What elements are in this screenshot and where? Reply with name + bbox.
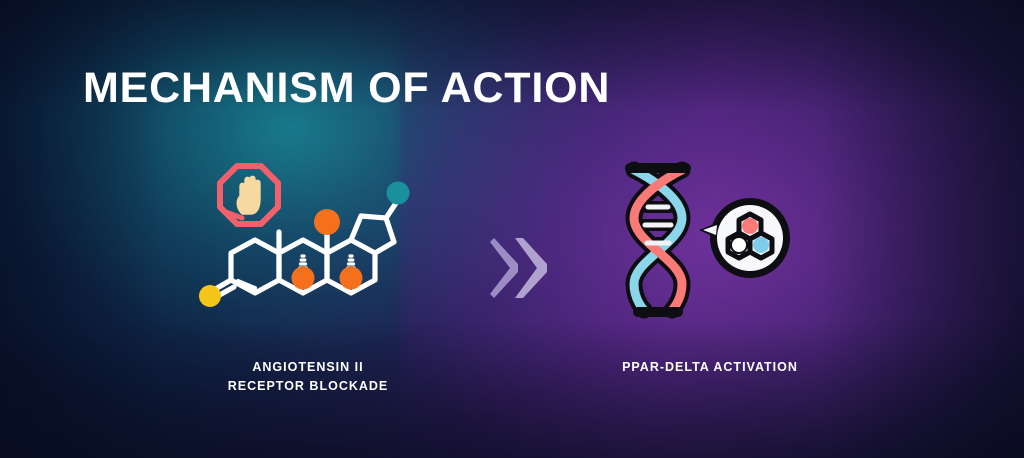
terminal-teal-atom [387, 182, 410, 205]
step-ppar-delta-activation: PPAR-DELTA ACTIVATION [560, 160, 860, 377]
chevron-back [490, 238, 518, 298]
hex-node-red [742, 218, 758, 234]
caption-line-1: ANGIOTENSIN II [158, 358, 458, 377]
terminal-yellow-atom [199, 285, 221, 307]
substituent-orange-mid [292, 267, 315, 290]
caption-line-2: RECEPTOR BLOCKADE [158, 377, 458, 396]
steroid-molecule-blocked-icon [158, 160, 458, 320]
mechanism-of-action-slide: MECHANISM OF ACTION [0, 0, 1024, 458]
double-chevron-right-icon [487, 232, 553, 304]
step-angiotensin-blockade: ANGIOTENSIN II RECEPTOR BLOCKADE [158, 160, 458, 397]
stop-sign-icon [220, 166, 278, 224]
chevron-front [515, 238, 547, 298]
dna-helix [630, 168, 686, 312]
caption-line-1: PPAR-DELTA ACTIVATION [560, 358, 860, 377]
dna-helix-gene-expression-icon [560, 160, 860, 320]
caption-ppar-delta-activation: PPAR-DELTA ACTIVATION [560, 358, 860, 377]
molecule-bubble [699, 198, 790, 278]
page-title: MECHANISM OF ACTION [83, 66, 610, 111]
substituent-orange-right [340, 267, 363, 290]
hex-node-white [731, 237, 747, 253]
caption-angiotensin-blockade: ANGIOTENSIN II RECEPTOR BLOCKADE [158, 358, 458, 397]
hex-node-blue [753, 237, 769, 253]
mechanism-flow: ANGIOTENSIN II RECEPTOR BLOCKADE [0, 160, 1024, 410]
substituent-orange-top [314, 209, 340, 235]
